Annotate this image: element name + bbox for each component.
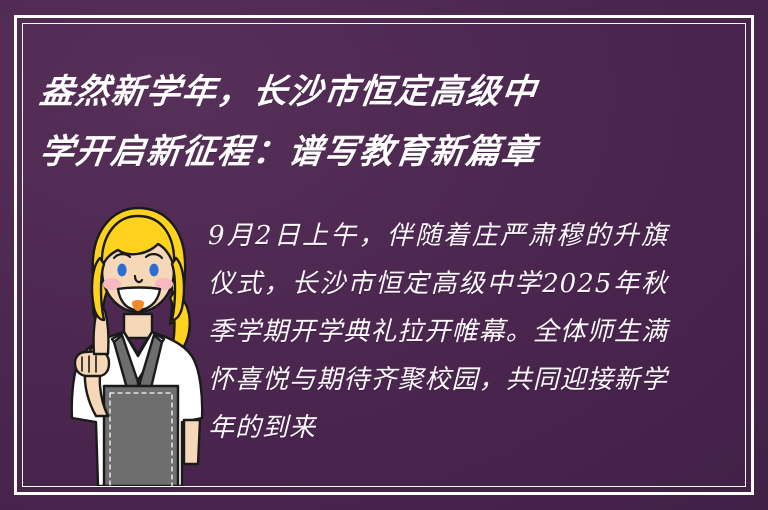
- article-paragraph: 9月2日上午，伴随着庄严肃穆的升旗仪式，长沙市恒定高级中学2025年秋季学期开学…: [208, 212, 668, 452]
- article-body: 9月2日上午，伴随着庄严肃穆的升旗仪式，长沙市恒定高级中学2025年秋季学期开学…: [208, 212, 668, 452]
- title-line-2: 学开启新征程：谱写教育新篇章: [36, 122, 643, 182]
- title-line-1: 盎然新学年，长沙市恒定高级中: [36, 62, 643, 122]
- page-title: 盎然新学年，长沙市恒定高级中 学开启新征程：谱写教育新篇章: [40, 62, 640, 182]
- cartoon-girl-pointing-up-icon: [52, 196, 218, 486]
- poster-canvas: 盎然新学年，长沙市恒定高级中 学开启新征程：谱写教育新篇章: [0, 0, 768, 510]
